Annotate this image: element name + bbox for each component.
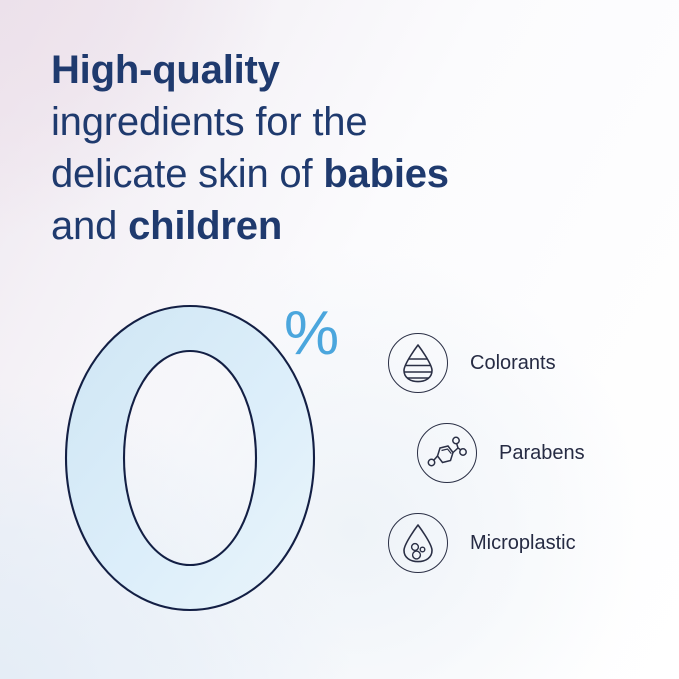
headline-line-3-bold: babies — [323, 152, 449, 196]
list-item-label: Parabens — [499, 441, 585, 465]
headline-line-1: High-quality — [51, 44, 551, 96]
excluded-ingredients-list: Colorants — [388, 332, 668, 602]
list-item-label: Colorants — [470, 351, 556, 375]
headline-line-3-plain: delicate skin of — [51, 152, 323, 196]
headline-line-2: ingredients for the — [51, 96, 551, 148]
zero-percent-graphic — [62, 303, 318, 613]
headline-line-1-bold: High-quality — [51, 48, 280, 92]
headline-line-4-plain: and — [51, 204, 128, 248]
list-item-label: Microplastic — [470, 531, 576, 555]
zero-digit-icon — [62, 303, 318, 613]
molecule-icon — [417, 423, 477, 483]
page-title: High-quality ingredients for the delicat… — [51, 44, 551, 252]
headline-line-4: and children — [51, 200, 551, 252]
promo-poster: High-quality ingredients for the delicat… — [0, 0, 679, 679]
list-item: Parabens — [417, 422, 668, 484]
list-item: Colorants — [388, 332, 668, 394]
droplet-microbeads-icon — [388, 513, 448, 573]
droplet-stripes-icon — [388, 333, 448, 393]
headline-line-3: delicate skin of babies — [51, 148, 551, 200]
percent-symbol: % — [284, 303, 337, 365]
headline-line-4-bold: children — [128, 204, 282, 248]
list-item: Microplastic — [388, 512, 668, 574]
